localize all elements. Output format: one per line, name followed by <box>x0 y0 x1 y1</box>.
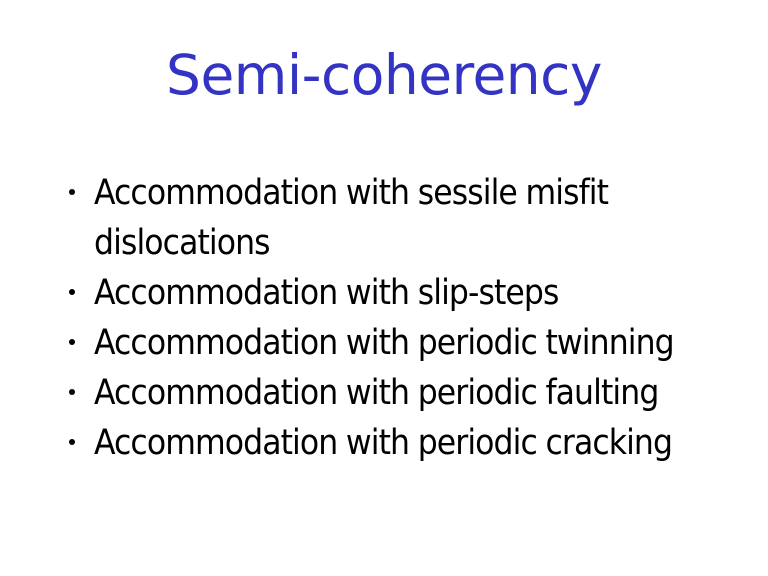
bullet-list: Accommodation with sessile misfit disloc… <box>62 168 722 468</box>
bullet-dot-icon <box>69 389 75 395</box>
page-title: Semi-coherency <box>0 44 768 106</box>
list-item: Accommodation with periodic cracking <box>62 418 722 468</box>
list-item: Accommodation with periodic faulting <box>62 368 722 418</box>
bullet-dot-icon <box>69 439 75 445</box>
list-item-label: Accommodation with periodic cracking <box>94 418 722 468</box>
list-item: Accommodation with slip-steps <box>62 268 722 318</box>
bullet-dot-icon <box>69 189 75 195</box>
list-item-label: Accommodation with slip-steps <box>94 268 722 318</box>
bullet-dot-icon <box>69 339 75 345</box>
presentation-slide: Semi-coherency Accommodation with sessil… <box>0 0 768 576</box>
list-item-label: Accommodation with sessile misfit disloc… <box>94 168 722 268</box>
list-item: Accommodation with sessile misfit disloc… <box>62 168 722 268</box>
bullet-dot-icon <box>69 289 75 295</box>
list-item: Accommodation with periodic twinning <box>62 318 722 368</box>
list-item-label: Accommodation with periodic faulting <box>94 368 722 418</box>
list-item-label: Accommodation with periodic twinning <box>94 318 722 368</box>
